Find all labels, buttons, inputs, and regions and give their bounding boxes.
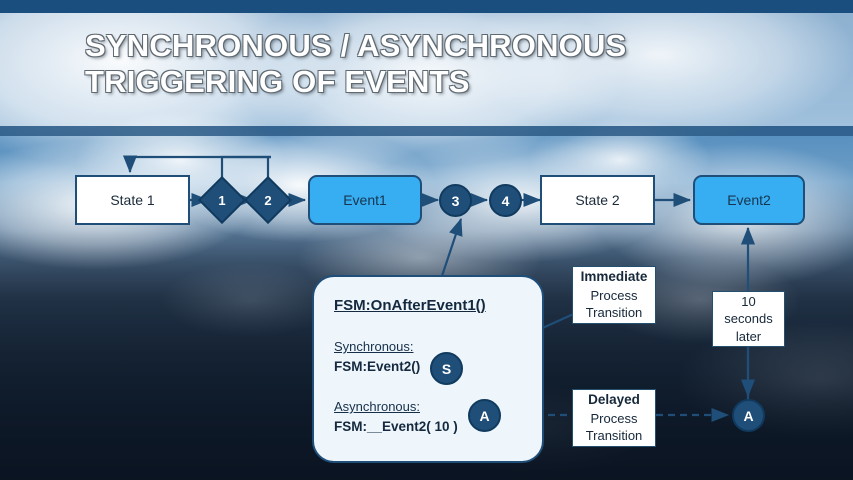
note-immediate-title: Immediate [581,268,648,286]
node-event-1-label: Event1 [343,192,387,208]
title-line-2: TRIGGERING OF EVENTS [85,64,805,100]
note-delayed[interactable]: Delayed Process Transition [572,389,656,447]
sync-marker-circle-s-label: S [442,361,451,377]
callout-sync-code: FSM:Event2() [334,359,420,374]
node-state-1-label: State 1 [110,192,154,208]
callout-async-code: FSM:__Event2( 10 ) [334,419,458,434]
callout-sync-label: Synchronous: [334,339,414,354]
node-state-1[interactable]: State 1 [75,175,190,225]
note-delayed-title: Delayed [588,391,640,409]
decision-diamond-2-label: 2 [253,185,283,215]
async-marker-circle-a-label: A [479,408,489,424]
delayed-target-circle-a[interactable]: A [732,399,765,432]
top-accent-bar [0,0,853,13]
note-delay-10-seconds[interactable]: 10 seconds later [712,291,785,347]
note-delayed-line2: Process [591,410,638,428]
delayed-target-circle-a-label: A [743,408,753,424]
slide-canvas: SYNCHRONOUS / ASYNCHRONOUS TRIGGERING OF… [0,0,853,480]
bottom-accent-bar [0,126,853,136]
callout-header: FSM:OnAfterEvent1() [334,297,486,314]
sync-marker-circle-s[interactable]: S [430,352,463,385]
node-event-2-label: Event2 [727,192,771,208]
node-state-2[interactable]: State 2 [540,175,655,225]
step-circle-3[interactable]: 3 [439,184,472,217]
note-delay-line3: later [736,328,761,346]
step-circle-3-label: 3 [452,193,460,209]
async-marker-circle-a[interactable]: A [468,399,501,432]
page-title: SYNCHRONOUS / ASYNCHRONOUS TRIGGERING OF… [85,28,805,100]
note-delay-line2: seconds [724,310,772,328]
node-event-2[interactable]: Event2 [693,175,805,225]
note-delayed-line3: Transition [586,427,643,445]
node-state-2-label: State 2 [575,192,619,208]
note-immediate-line2: Process [591,287,638,305]
node-event-1[interactable]: Event1 [308,175,422,225]
step-circle-4[interactable]: 4 [489,184,522,217]
callout-fsm-onafterevent1[interactable]: FSM:OnAfterEvent1() Synchronous: FSM:Eve… [312,275,544,463]
title-line-1: SYNCHRONOUS / ASYNCHRONOUS [85,28,805,64]
note-immediate-line3: Transition [586,304,643,322]
note-immediate[interactable]: Immediate Process Transition [572,266,656,324]
decision-diamond-1-label: 1 [207,185,237,215]
step-circle-4-label: 4 [502,193,510,209]
note-delay-line1: 10 [741,293,755,311]
callout-async-label: Asynchronous: [334,399,420,414]
